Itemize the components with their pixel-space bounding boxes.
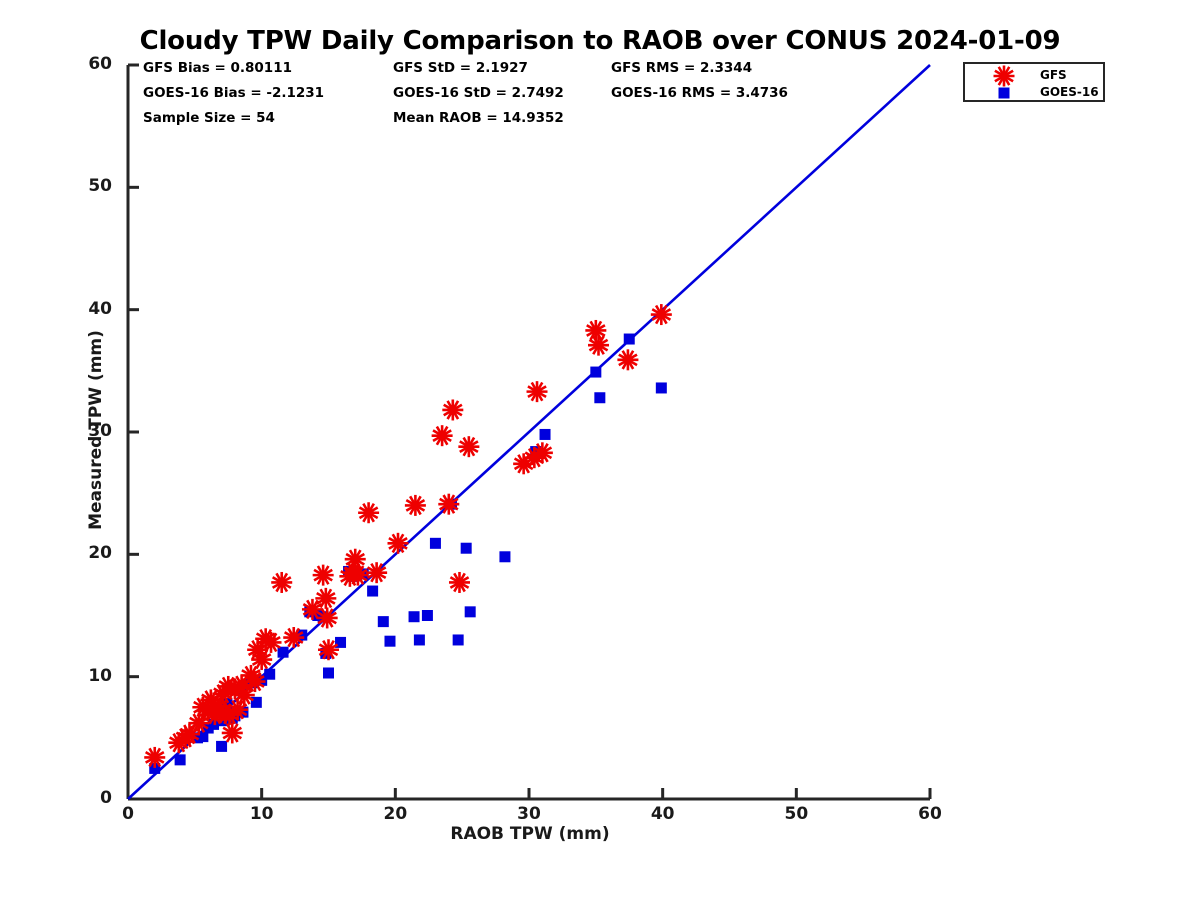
data-point-gfs — [994, 66, 1015, 87]
legend-label-gfs: GFS — [1040, 68, 1067, 82]
legend-label-goes-16: GOES-16 — [1040, 85, 1099, 99]
legend-markers — [0, 0, 1200, 900]
data-point-goes-16 — [999, 88, 1010, 99]
chart-figure: Cloudy TPW Daily Comparison to RAOB over… — [0, 0, 1200, 900]
